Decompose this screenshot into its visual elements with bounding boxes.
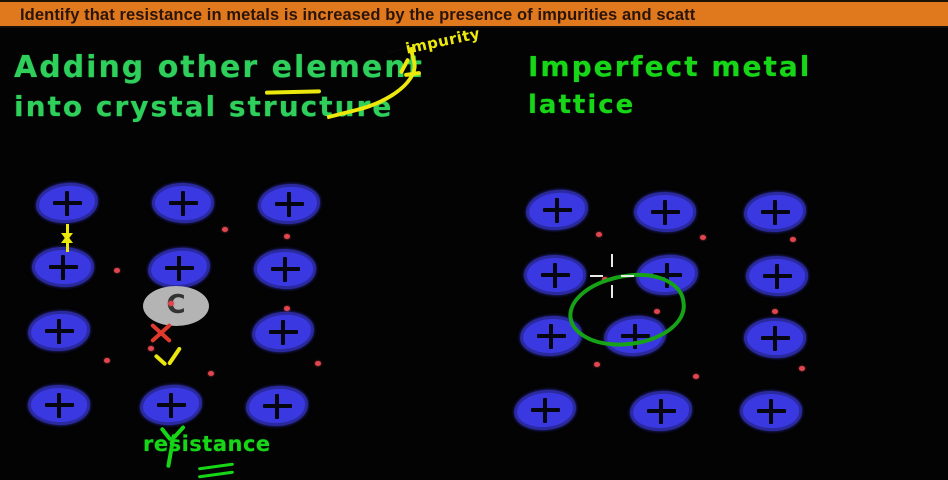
ion-right-r2c1 xyxy=(524,255,586,295)
right-heading-line2: lattice xyxy=(528,90,635,120)
ion-right-r4c2 xyxy=(630,391,692,431)
plus-icon xyxy=(169,201,198,205)
impurity-annotation: impurity xyxy=(404,24,482,57)
ion-left-r4c1 xyxy=(28,385,90,425)
electron-dot xyxy=(596,232,602,237)
electron-dot xyxy=(790,237,796,242)
plus-icon xyxy=(271,267,300,271)
plus-icon xyxy=(761,210,790,214)
resistance-underline xyxy=(198,465,234,479)
yellow-check-icon xyxy=(152,352,186,376)
red-x-icon xyxy=(148,320,174,344)
ion-right-r1c1 xyxy=(526,190,588,230)
plus-icon xyxy=(537,334,566,338)
ion-left-r1c2 xyxy=(152,183,214,223)
electron-dot xyxy=(208,371,214,376)
electron-dot xyxy=(104,358,110,363)
ion-left-r2c3 xyxy=(254,249,316,289)
ion-left-r4c2 xyxy=(140,385,202,425)
plus-icon xyxy=(45,329,74,333)
plus-icon xyxy=(53,201,82,205)
impurity-arrow-icon xyxy=(320,58,416,104)
plus-icon xyxy=(45,403,74,407)
resistance-annotation: resistance xyxy=(143,432,271,456)
electron-dot xyxy=(772,309,778,314)
ion-left-r1c1 xyxy=(36,183,98,223)
ion-right-r2c3 xyxy=(746,256,808,296)
plus-icon xyxy=(165,266,194,270)
plus-icon xyxy=(757,409,786,413)
plus-icon xyxy=(531,408,560,412)
electron-dot xyxy=(284,234,290,239)
electron-dot xyxy=(594,362,600,367)
plus-icon xyxy=(543,208,572,212)
plus-icon xyxy=(269,330,298,334)
plus-icon xyxy=(763,274,792,278)
ion-right-r3c3 xyxy=(744,318,806,358)
plus-icon xyxy=(541,273,570,277)
ion-left-r4c3 xyxy=(246,386,308,426)
electron-dot xyxy=(168,301,174,306)
screenshot-root: Identify that resistance in metals is in… xyxy=(0,0,948,480)
electron-dot xyxy=(148,346,154,351)
ion-left-r2c2 xyxy=(148,248,210,288)
electron-dot xyxy=(315,361,321,366)
plus-icon xyxy=(275,202,304,206)
lesson-objective-text: Identify that resistance in metals is in… xyxy=(20,4,695,26)
plus-icon xyxy=(761,336,790,340)
electron-dot xyxy=(284,306,290,311)
plus-icon xyxy=(263,404,292,408)
electron-dot xyxy=(799,366,805,371)
lattice-compression-arrows-icon xyxy=(56,224,80,254)
ion-left-r1c3 xyxy=(258,184,320,224)
electron-dot xyxy=(114,268,120,273)
electron-dot xyxy=(700,235,706,240)
lesson-objective-banner: Identify that resistance in metals is in… xyxy=(0,0,948,28)
ion-left-r3c3 xyxy=(252,312,314,352)
ion-right-r1c2 xyxy=(634,192,696,232)
mouse-crosshair-cursor xyxy=(590,254,634,298)
plus-icon xyxy=(49,265,78,269)
ion-right-r4c1 xyxy=(514,390,576,430)
plus-icon xyxy=(651,210,680,214)
plus-icon xyxy=(647,409,676,413)
ion-right-r1c3 xyxy=(744,192,806,232)
right-heading-line1: Imperfect metal xyxy=(528,50,811,83)
whiteboard-canvas[interactable]: Adding other element into crystal struct… xyxy=(0,28,948,480)
plus-icon xyxy=(157,403,186,407)
electron-dot xyxy=(222,227,228,232)
ion-right-r4c3 xyxy=(740,391,802,431)
ion-left-r3c1 xyxy=(28,311,90,351)
electron-dot xyxy=(693,374,699,379)
